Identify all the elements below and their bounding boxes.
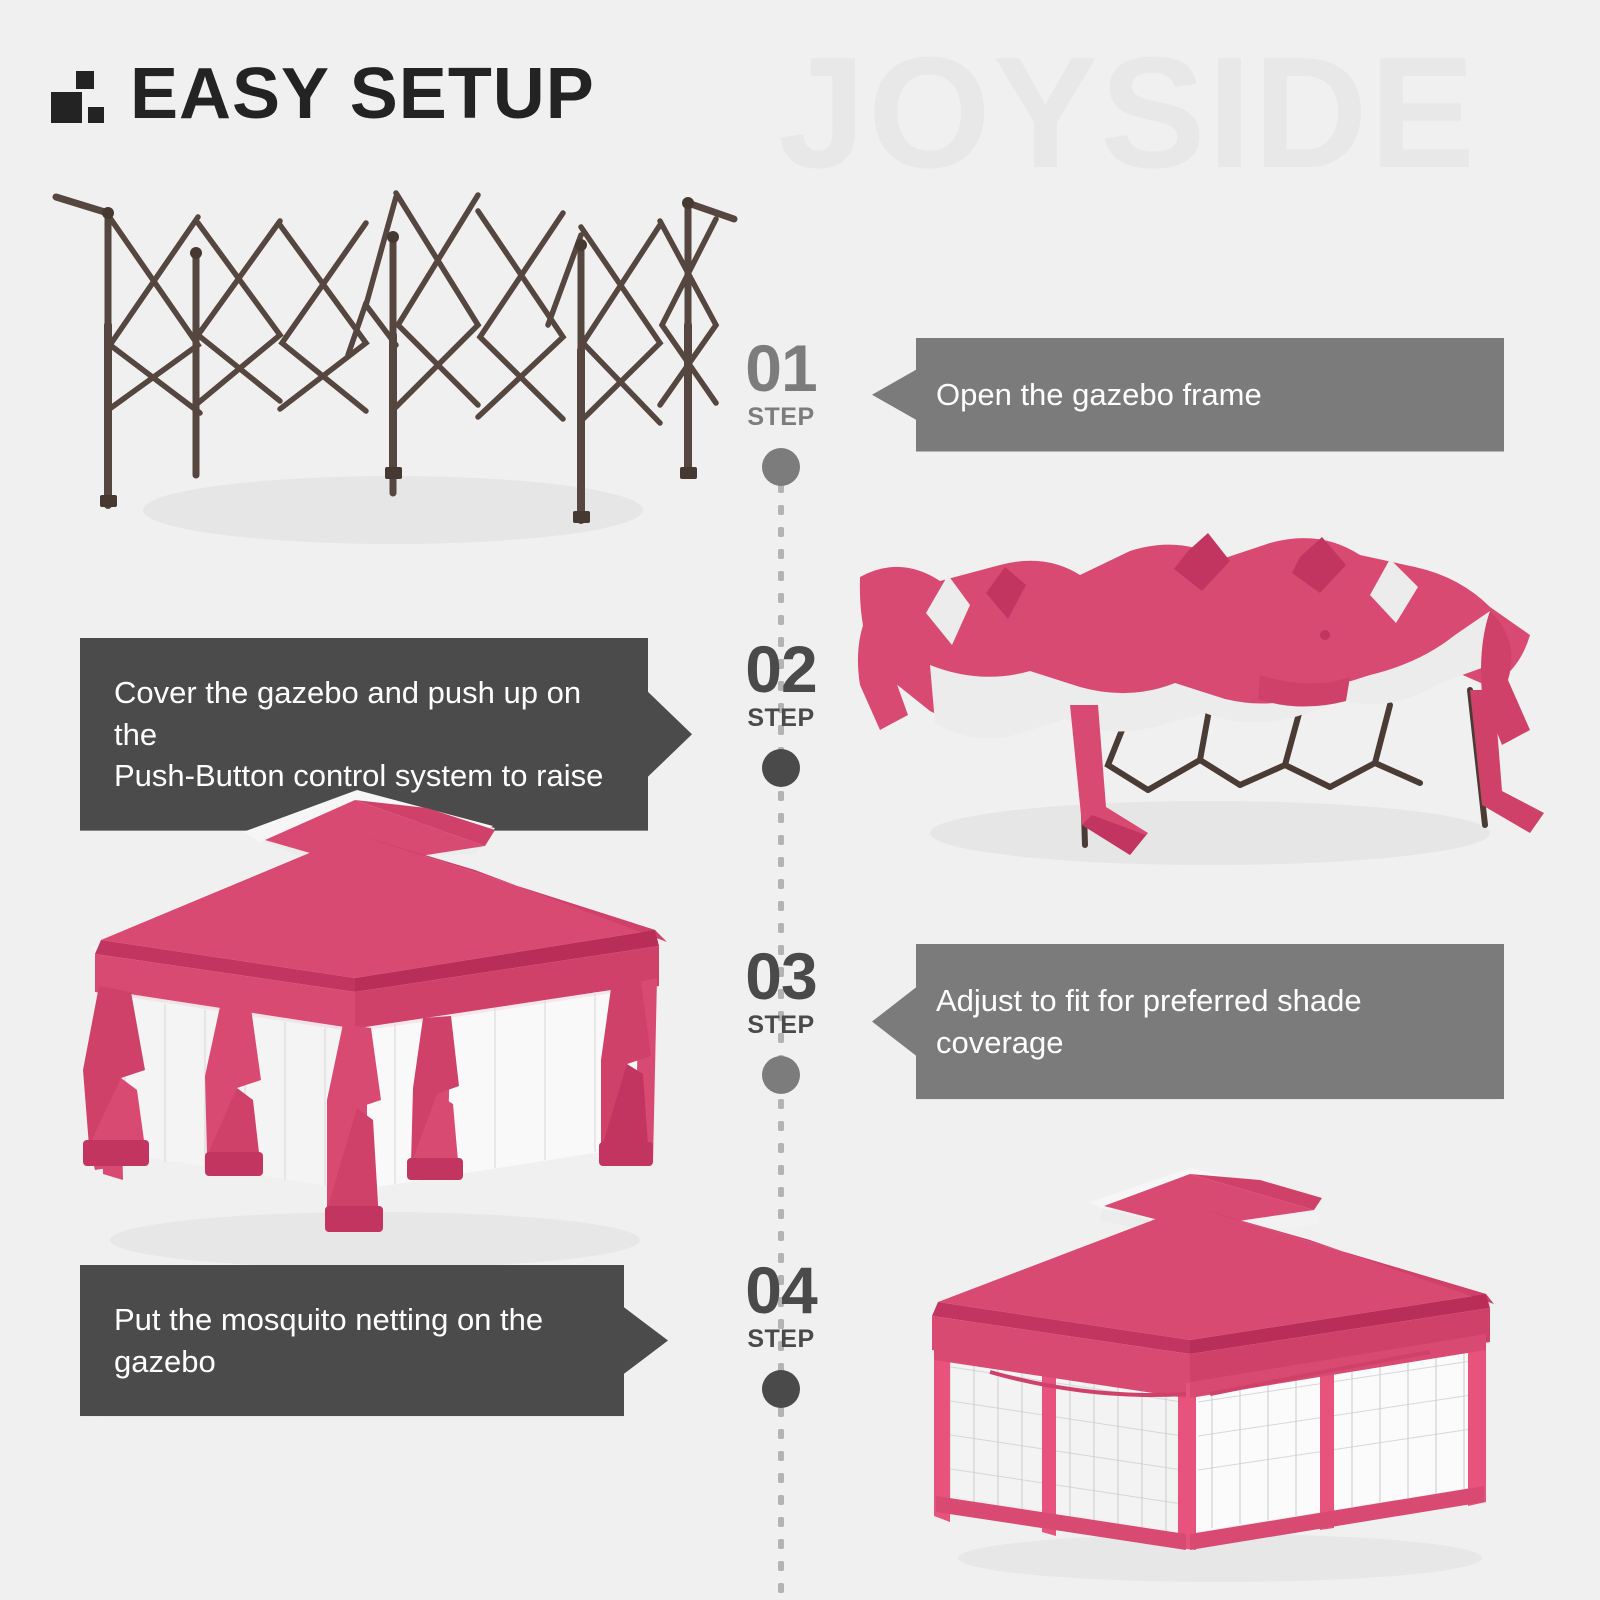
step-dot xyxy=(762,1370,800,1408)
step-label: STEP xyxy=(706,403,856,432)
three-squares-icon xyxy=(50,65,108,123)
step-label: STEP xyxy=(706,704,856,733)
callout-text: Put the mosquito netting on the gazebo xyxy=(114,1299,606,1382)
step-dot xyxy=(762,448,800,486)
photo-gazebo-canopy-draped xyxy=(830,515,1550,900)
callout-step-01[interactable]: Open the gazebo frame xyxy=(872,338,1504,452)
step-dot xyxy=(762,1056,800,1094)
step-number: 03 xyxy=(706,944,856,1009)
callout-text-line-1: Cover the gazebo and push up on the xyxy=(114,675,581,752)
photo-gazebo-frame-expanded xyxy=(48,175,738,565)
step-number: 01 xyxy=(706,336,856,401)
step-number: 02 xyxy=(706,637,856,702)
step-marker-01: 01 STEP xyxy=(706,336,856,486)
step-marker-03: 03 STEP xyxy=(706,944,856,1094)
brand-watermark: JOYSIDE xyxy=(778,34,1477,192)
step-dot xyxy=(762,749,800,787)
photo-gazebo-raised-with-curtains xyxy=(55,770,695,1280)
callout-text: Open the gazebo frame xyxy=(936,374,1262,416)
callout-text: Adjust to fit for preferred shade covera… xyxy=(936,980,1470,1063)
infographic-canvas: JOYSIDE EASY SETUP xyxy=(0,0,1600,1600)
step-label: STEP xyxy=(706,1011,856,1040)
page-header: EASY SETUP xyxy=(50,58,595,130)
callout-step-04[interactable]: Put the mosquito netting on the gazebo xyxy=(80,1265,668,1416)
step-marker-02: 02 STEP xyxy=(706,637,856,787)
callout-step-03[interactable]: Adjust to fit for preferred shade covera… xyxy=(872,944,1504,1099)
step-label: STEP xyxy=(706,1325,856,1354)
page-title: EASY SETUP xyxy=(130,58,595,130)
step-number: 04 xyxy=(706,1258,856,1323)
step-marker-04: 04 STEP xyxy=(706,1258,856,1408)
photo-gazebo-with-mosquito-netting xyxy=(890,1150,1540,1590)
